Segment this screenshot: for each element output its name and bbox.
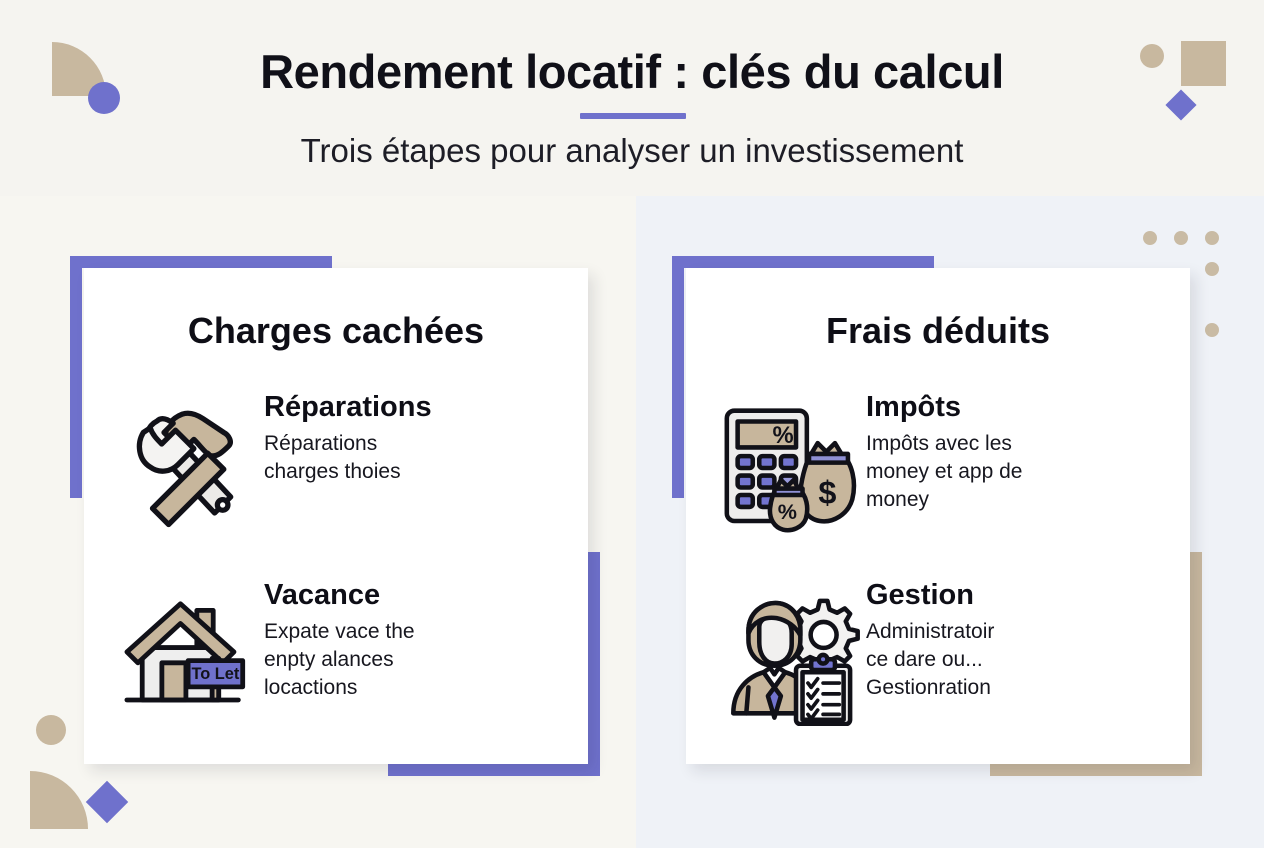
card-surface: Frais déduits	[686, 268, 1190, 764]
list-item-heading: Réparations	[264, 392, 432, 424]
circle-icon	[36, 715, 66, 745]
card-accent-top	[672, 256, 934, 268]
card-charges-cachees[interactable]: Charges cachées	[70, 256, 600, 776]
dot-icon	[1174, 231, 1188, 245]
card-surface: Charges cachées	[84, 268, 588, 764]
page-subtitle: Trois étapes pour analyser un investisse…	[0, 132, 1264, 170]
dot-icon	[1205, 262, 1219, 276]
to-let-sign-label: To Let	[191, 665, 239, 683]
list-item-text: Réparations Réparations charges thoies	[260, 392, 432, 486]
list-item-text: Gestion Administratoir ce dare ou... Ges…	[862, 580, 994, 702]
card-accent-left	[70, 256, 82, 498]
wrench-hammer-icon	[114, 392, 260, 536]
list-item-heading: Gestion	[866, 580, 994, 612]
list-item-body-line: money et app de	[866, 458, 1022, 486]
list-item[interactable]: % $ % Impôts Impôts avec les money et ap…	[716, 392, 1166, 538]
manager-gear-clipboard-icon	[716, 580, 862, 726]
calculator-money-bags-icon: % $ %	[716, 392, 862, 538]
title-divider	[580, 113, 686, 119]
list-item-body-line: enpty alances	[264, 646, 415, 674]
list-item[interactable]: Gestion Administratoir ce dare ou... Ges…	[716, 580, 1166, 726]
page-title: Rendement locatif : clés du calcul	[0, 44, 1264, 99]
dot-icon	[1205, 231, 1219, 245]
card-accent-right	[1190, 552, 1202, 776]
percent-symbol: %	[778, 499, 797, 524]
header: Rendement locatif : clés du calcul Trois…	[0, 0, 1264, 196]
infographic-canvas: Rendement locatif : clés du calcul Trois…	[0, 0, 1264, 848]
card-accent-top	[70, 256, 332, 268]
list-item-body-line: money	[866, 486, 1022, 514]
list-item-body-line: ce dare ou...	[866, 646, 994, 674]
circle-icon	[88, 82, 120, 114]
calculator-percent-symbol: %	[772, 422, 793, 449]
card-title: Frais déduits	[686, 310, 1190, 352]
card-accent-right	[588, 552, 600, 776]
list-item-body-line: Expate vace the	[264, 618, 415, 646]
list-item-body-line: Réparations	[264, 430, 432, 458]
list-item-body-line: Impôts avec les	[866, 430, 1022, 458]
dot-icon	[1143, 231, 1157, 245]
card-accent-bottom	[990, 764, 1202, 776]
dot-icon	[1205, 323, 1219, 337]
list-item-heading: Impôts	[866, 392, 1022, 424]
list-item[interactable]: Réparations Réparations charges thoies	[114, 392, 564, 536]
list-item-text: Impôts Impôts avec les money et app de m…	[862, 392, 1022, 514]
dollar-symbol: $	[818, 475, 836, 511]
circle-icon	[1140, 44, 1164, 68]
list-item[interactable]: To Let Vacance Expate vace the enpty ala…	[114, 580, 564, 720]
house-to-let-icon: To Let	[114, 580, 260, 720]
list-item-heading: Vacance	[264, 580, 415, 612]
list-item-body-line: charges thoies	[264, 458, 432, 486]
card-frais-deduits[interactable]: Frais déduits	[672, 256, 1202, 776]
square-icon	[1181, 41, 1226, 86]
list-item-body-line: Administratoir	[866, 618, 994, 646]
list-item-body-line: locactions	[264, 674, 415, 702]
list-item-text: Vacance Expate vace the enpty alances lo…	[260, 580, 415, 702]
card-accent-left	[672, 256, 684, 498]
card-title: Charges cachées	[84, 310, 588, 352]
list-item-body-line: Gestionration	[866, 674, 994, 702]
card-accent-bottom	[388, 764, 600, 776]
